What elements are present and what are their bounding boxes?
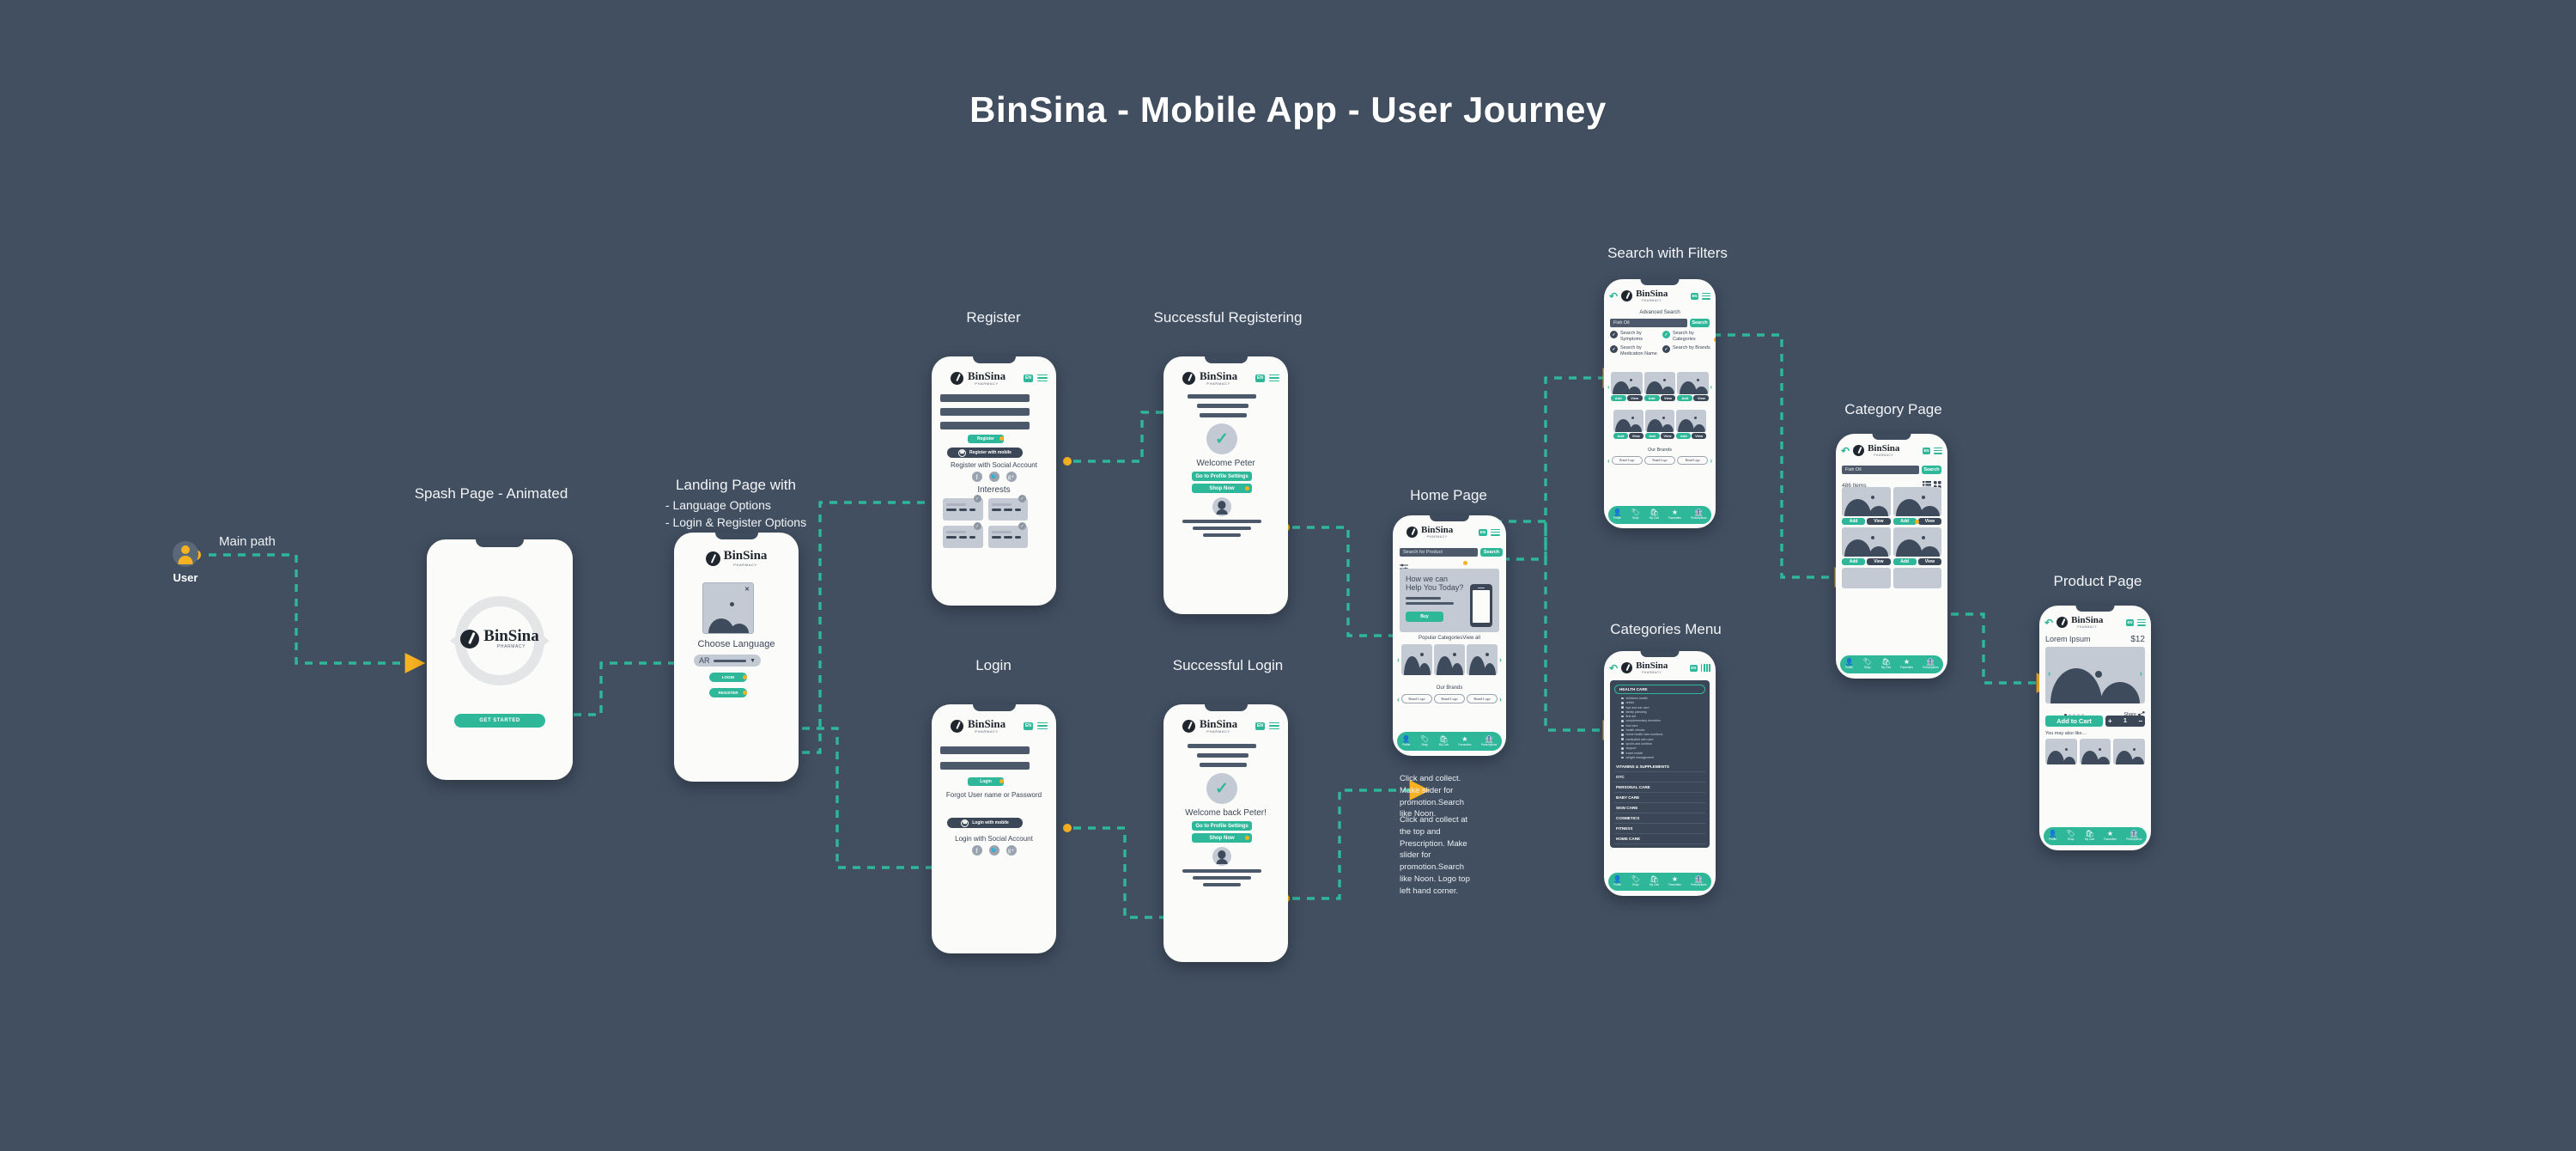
check-badge-icon: ✓ [974, 495, 981, 502]
filter-icon[interactable] [1400, 559, 1408, 566]
login-with-mobile-label: Login with mobile [972, 820, 1009, 825]
results-row-1: ‹ Add View [1607, 372, 1712, 401]
nav-profile[interactable]: 👤Profile [2049, 831, 2057, 841]
category-group[interactable]: SKIN CARE [1614, 803, 1705, 813]
twitter-icon[interactable]: 🐦 [989, 472, 999, 482]
profile-icon: 👤 [1613, 509, 1622, 516]
bottom-navbar[interactable]: 👤Profile 🏷Shop 🛍My Cart ★Favourites 🏦Pre… [1608, 873, 1711, 891]
checkbox-checked-icon[interactable]: ✓ [1662, 345, 1670, 353]
register-social-row: f 🐦 g+ [932, 472, 1056, 482]
register-button[interactable]: REGISTER [709, 688, 747, 697]
brand-tagline: PHARMACY [1421, 535, 1453, 539]
product-thumb[interactable] [1644, 372, 1676, 394]
chevron-left-icon[interactable]: ‹ [1607, 383, 1610, 391]
search-input[interactable]: Search for Product [1400, 548, 1478, 557]
avatar [1212, 497, 1231, 516]
bottom-navbar[interactable]: 👤Profile 🏷Shop 🛍My Cart ★Favourites 🏦Pre… [1608, 506, 1711, 524]
quantity-increase-button[interactable]: + [2108, 717, 2112, 725]
category-sub-item[interactable]: foot care [1621, 724, 1705, 728]
brand-tagline: PHARMACY [724, 563, 768, 567]
nav-prescriptions[interactable]: 🏦Prescriptions [1481, 736, 1497, 746]
product-gallery[interactable]: ‹ › [2045, 647, 2145, 703]
star-icon: ★ [1668, 509, 1681, 516]
login-social-heading: Login with Social Account [932, 835, 1056, 843]
register-submit-button[interactable]: Register [968, 435, 1004, 443]
hero-line-1: How we can [1406, 575, 1493, 583]
checkbox-checked-icon[interactable]: ✓ [1662, 331, 1670, 338]
filter-label: Search by Medication Name [1620, 345, 1659, 356]
nav-shop[interactable]: 🏷Shop [1631, 876, 1640, 886]
category-thumb[interactable] [1434, 644, 1465, 675]
label-category-page: Category Page [1844, 399, 1941, 421]
user-icon [173, 541, 198, 567]
category-sub-item[interactable]: family planning [1621, 710, 1705, 714]
search-button[interactable]: Search [1480, 548, 1503, 557]
go-to-profile-settings-button[interactable]: Go to Profile Settings [1192, 821, 1252, 831]
chevron-left-icon[interactable]: ‹ [1397, 655, 1400, 664]
menu-icon[interactable] [2137, 619, 2146, 626]
language-badge[interactable]: EN [2126, 619, 2134, 626]
category-sub-item[interactable]: complementary remedies [1621, 719, 1705, 722]
facebook-icon[interactable]: f [972, 845, 982, 856]
menu-icon[interactable] [1491, 529, 1500, 536]
product-thumb[interactable] [1893, 487, 1942, 516]
close-icon[interactable]: ✕ [744, 586, 750, 593]
star-icon: ★ [1900, 659, 1913, 666]
view-button[interactable]: View [1693, 395, 1709, 401]
binsina-logo-icon [460, 630, 479, 649]
language-badge[interactable]: EN [1024, 375, 1033, 382]
prescription-icon: 🏦 [1691, 509, 1706, 516]
related-product-thumb[interactable] [2045, 739, 2077, 764]
nav-shop[interactable]: 🏷Shop [2067, 831, 2075, 841]
back-arrow-icon[interactable]: ↶ [1609, 291, 1618, 301]
screen-register: BinSina PHARMACY EN Register ☎ Register … [932, 356, 1056, 606]
brand-logo-splash: BinSina PHARMACY [427, 628, 573, 649]
brand-logo-chip[interactable]: Brand Logo [1612, 456, 1643, 465]
menu-icon[interactable] [1269, 375, 1279, 382]
home-annotation-1: Click and collect. Make slider for promo… [1400, 773, 1475, 820]
chevron-right-icon[interactable]: › [1499, 655, 1502, 664]
category-sub-item[interactable]: home health care solutions [1621, 733, 1705, 736]
view-button[interactable]: View [1629, 433, 1643, 439]
category-sub-item[interactable]: medicated skin care [1621, 738, 1705, 741]
filter-options: ✓ Search by Symptoms ✓ Search by Categor… [1610, 331, 1711, 356]
login-submit-button[interactable]: Login [968, 777, 1004, 786]
register-with-mobile-label: Register with mobile [969, 450, 1012, 455]
view-button[interactable]: View [1661, 395, 1676, 401]
interest-card[interactable]: ✓ [988, 498, 1029, 521]
add-button[interactable]: Add [1842, 518, 1865, 525]
category-group[interactable]: COSMETICS [1614, 813, 1705, 824]
placeholder-line [1188, 394, 1256, 399]
quantity-decrease-button[interactable]: − [2138, 717, 2142, 725]
register-field-3[interactable] [940, 422, 1030, 429]
hero-image-placeholder: ✕ [702, 582, 754, 634]
bottom-navbar[interactable]: 👤Profile 🏷Shop 🛍My Cart ★Favourites 🏦Pre… [2044, 827, 2147, 845]
checkbox-checked-icon[interactable]: ✓ [1610, 345, 1618, 353]
menu-open-icon[interactable] [1701, 664, 1710, 672]
related-product-thumb[interactable] [2113, 739, 2145, 764]
forgot-password-link[interactable]: Forgot User name or Password [932, 791, 1056, 799]
language-select[interactable]: AR ▼ [694, 655, 761, 667]
chevron-left-icon[interactable]: ‹ [1607, 457, 1610, 465]
placeholder-line [1406, 602, 1454, 605]
screen-home: BinSina PHARMACY EN Search for Product S… [1393, 515, 1506, 756]
journey-canvas: BinSina - Mobile App - User Journey [0, 0, 2576, 1151]
menu-icon[interactable] [1037, 722, 1048, 730]
go-to-profile-settings-button[interactable]: Go to Profile Settings [1192, 472, 1252, 481]
nav-cart[interactable]: 🛍My Cart [1649, 509, 1659, 520]
profile-icon: 👤 [1845, 659, 1854, 666]
nav-prescriptions[interactable]: 🏦Prescriptions [2126, 831, 2142, 841]
product-card[interactable]: Add View [1842, 487, 1891, 525]
brands-carousel[interactable]: ‹ Brand Logo Brand Logo Brand Logo › [1397, 694, 1502, 703]
view-all-link[interactable]: View all [1462, 636, 1480, 641]
basket-icon: 🛍 [2085, 831, 2094, 837]
quantity-stepper[interactable]: + 1 − [2105, 716, 2145, 727]
nav-cart[interactable]: 🛍My Cart [2085, 831, 2094, 841]
connector-dot [1714, 338, 1716, 342]
menu-icon[interactable] [1269, 722, 1279, 730]
language-badge[interactable]: EN [1479, 529, 1487, 536]
add-button[interactable]: Add [1645, 433, 1660, 439]
binsina-logo-icon [951, 372, 963, 385]
brand-logo-chip[interactable]: Brand Logo [1644, 456, 1675, 465]
avatar [1212, 847, 1231, 866]
interest-card[interactable]: ✓ [988, 526, 1029, 548]
page-title: BinSina - Mobile App - User Journey [0, 89, 2576, 131]
nav-cart[interactable]: 🛍My Cart [1439, 736, 1449, 746]
language-badge[interactable]: EN [1690, 665, 1698, 672]
brand-logo-landing: BinSina PHARMACY [674, 550, 799, 567]
category-group-active[interactable]: HEALTH CARE [1614, 685, 1705, 694]
user-node: User [168, 541, 203, 584]
back-arrow-icon[interactable]: ↶ [1841, 446, 1850, 456]
brand-name: BinSina [1868, 444, 1899, 454]
brand-logo-chip[interactable]: Brand Logo [1401, 694, 1432, 703]
purchase-row: Add to Cart + 1 − [2045, 716, 2145, 727]
product-price: $12 [2130, 635, 2145, 644]
product-thumb[interactable] [1893, 527, 1942, 557]
view-button[interactable]: View [1867, 558, 1890, 565]
category-sub-item[interactable]: health checks [1621, 728, 1705, 732]
binsina-logo-icon [951, 720, 963, 733]
brand-logo-chip[interactable]: Brand Logo [1467, 694, 1498, 703]
category-sub-item[interactable]: support [1621, 746, 1705, 750]
menu-icon[interactable] [1702, 293, 1710, 300]
hero-banner[interactable]: How we can Help You Today? Buy [1400, 569, 1499, 632]
facebook-icon[interactable]: f [972, 472, 982, 482]
chevron-right-icon[interactable]: › [1710, 383, 1712, 391]
brand-tagline: PHARMACY [1868, 454, 1899, 457]
buy-button[interactable]: Buy [1406, 612, 1443, 622]
prescription-icon: 🏦 [2126, 831, 2142, 837]
star-icon: ★ [1668, 876, 1681, 883]
search-button[interactable]: Search [1690, 319, 1710, 327]
label-home: Home Page [1410, 485, 1487, 507]
prescription-icon: 🏦 [1481, 736, 1497, 743]
placeholder-line [1200, 413, 1247, 417]
screen-login: BinSina PHARMACY EN Login Forgot User na… [932, 704, 1056, 953]
nav-shop[interactable]: 🏷Shop [1863, 659, 1872, 669]
category-sub-item[interactable]: weight management [1621, 756, 1705, 759]
placeholder-line [1203, 883, 1241, 886]
nav-cart[interactable]: 🛍My Cart [1649, 876, 1659, 886]
add-button[interactable]: Add [1611, 395, 1626, 401]
add-button[interactable]: Add [1677, 395, 1692, 401]
connector-dot [1245, 836, 1249, 840]
category-sub-item[interactable]: eye and ear care [1621, 706, 1705, 709]
menu-icon[interactable] [1934, 448, 1942, 454]
filter-label: Search by Categories [1673, 331, 1711, 342]
language-badge[interactable]: EN [1691, 293, 1698, 300]
nav-favourites[interactable]: ★Favourites [1668, 876, 1681, 886]
interests-heading: Interests [932, 485, 1056, 495]
language-badge[interactable]: EN [1255, 375, 1265, 382]
add-button[interactable]: Add [1676, 433, 1691, 439]
success-check-icon: ✓ [1206, 423, 1237, 454]
add-to-cart-button[interactable]: Add to Cart [2045, 716, 2103, 727]
quantity-value: 1 [2123, 718, 2127, 724]
star-icon: ★ [1458, 736, 1471, 743]
filter-label: Search by Symptoms [1620, 331, 1659, 342]
add-button[interactable]: Add [1893, 518, 1917, 525]
product-thumb[interactable] [1842, 487, 1891, 516]
register-with-mobile-button[interactable]: ☎ Register with mobile [947, 448, 1023, 458]
view-button[interactable]: View [1692, 433, 1706, 439]
home-annotation-2: Click and collect at the top and Prescri… [1400, 814, 1475, 897]
filter-option[interactable]: ✓ Search by Categories [1662, 331, 1711, 342]
language-badge[interactable]: EN [1024, 722, 1033, 730]
label-landing-sub1: - Language Options [665, 496, 806, 514]
label-success-login: Successful Login [1173, 655, 1284, 677]
chevron-left-icon[interactable]: ‹ [1397, 695, 1400, 703]
twitter-icon[interactable]: 🐦 [989, 845, 999, 856]
register-field-2[interactable] [940, 408, 1030, 416]
menu-icon[interactable] [1037, 375, 1048, 382]
nav-profile[interactable]: 👤Profile [1613, 876, 1622, 886]
chevron-left-icon[interactable]: ‹ [2048, 669, 2050, 679]
nav-profile[interactable]: 👤Profile [1613, 509, 1622, 520]
search-input[interactable]: Fish Oil [1610, 319, 1687, 327]
profile-icon: 👤 [2049, 831, 2057, 837]
nav-prescriptions[interactable]: 🏦Prescriptions [1691, 509, 1706, 520]
product-card[interactable]: Add View [1893, 527, 1942, 565]
view-button[interactable]: View [1661, 433, 1675, 439]
product-thumb[interactable] [1842, 527, 1891, 557]
view-button[interactable]: View [1918, 558, 1941, 565]
category-sub-item[interactable]: first aid [1621, 715, 1705, 718]
login-with-mobile-button[interactable]: ☎ Login with mobile [947, 818, 1023, 828]
category-thumb[interactable] [1467, 644, 1498, 675]
screen-success-login: BinSina PHARMACY EN ✓ Welcome back Peter… [1163, 704, 1288, 962]
brand-name: BinSina [724, 550, 768, 563]
chevron-right-icon[interactable]: › [2140, 669, 2142, 679]
get-started-button[interactable]: GET STARTED [454, 714, 545, 728]
select-fill [714, 660, 747, 662]
category-sub-item[interactable]: childrens health [1621, 697, 1705, 700]
filter-option[interactable]: ✓ Search by Brands [1662, 345, 1711, 356]
product-card[interactable]: Add View [1893, 487, 1942, 525]
nav-favourites[interactable]: ★Favourites [1668, 509, 1681, 520]
phone-icon: ☎ [961, 819, 969, 827]
product-thumb[interactable] [1677, 372, 1709, 394]
language-badge[interactable]: EN [1255, 722, 1265, 730]
brand-name: BinSina [1421, 526, 1453, 535]
nav-profile[interactable]: 👤Profile [1845, 659, 1854, 669]
brand-logo-chip[interactable]: Brand Logo [1677, 456, 1708, 465]
basket-icon: 🛍 [1649, 876, 1659, 883]
results-row-2: Add View Add View [1607, 410, 1712, 439]
placeholder-line [1193, 527, 1251, 530]
screen-landing: BinSina PHARMACY ✕ Choose Language AR ▼ … [674, 533, 799, 782]
nav-shop[interactable]: 🏷Shop [1420, 736, 1429, 746]
add-button[interactable]: Add [1893, 558, 1917, 565]
popular-categories-row: Popular Categories View all [1400, 636, 1499, 641]
shop-now-button[interactable]: Shop Now [1192, 833, 1252, 843]
advanced-search-heading: Advanced Search [1604, 310, 1716, 315]
screen-categories-menu: ↶ BinSina PHARMACY EN HEALTH CARE childr… [1604, 651, 1716, 896]
tag-icon: 🏷 [1631, 876, 1640, 883]
login-password-field[interactable] [940, 762, 1030, 770]
binsina-logo-icon [2057, 617, 2068, 628]
binsina-logo-icon [1853, 445, 1864, 456]
product-thumb[interactable] [1842, 568, 1891, 588]
view-button[interactable]: View [1918, 518, 1941, 525]
brand-name: BinSina [968, 370, 1005, 381]
interest-card[interactable]: ✓ [943, 498, 983, 521]
check-badge-icon: ✓ [1018, 495, 1026, 502]
register-field-1[interactable] [940, 394, 1030, 402]
login-button[interactable]: LOGIN [709, 673, 747, 682]
product-thumb[interactable] [1613, 410, 1643, 432]
view-button[interactable]: View [1627, 395, 1643, 401]
add-button[interactable]: Add [1613, 433, 1628, 439]
product-thumb[interactable] [1676, 410, 1706, 432]
label-product-page: Product Page [2053, 571, 2142, 593]
check-badge-icon: ✓ [974, 522, 981, 530]
check-badge-icon: ✓ [1018, 522, 1026, 530]
login-username-field[interactable] [940, 746, 1030, 754]
filter-option[interactable]: ✓ Search by Medication Name [1610, 345, 1659, 356]
category-sub-item[interactable]: sports and nutrition [1621, 742, 1705, 746]
nav-cart[interactable]: 🛍My Cart [1881, 659, 1891, 669]
categories-carousel[interactable]: ‹ › [1397, 644, 1502, 675]
category-thumb[interactable] [1401, 644, 1432, 675]
screen-category-page: ↶ BinSina PHARMACY EN Fish Oil Search 48… [1836, 434, 1947, 679]
category-group[interactable]: FITNESS [1614, 824, 1705, 834]
placeholder-line [1188, 744, 1256, 748]
category-sub-list: childrens health drinks eye and ear care… [1614, 694, 1705, 762]
binsina-logo-icon [1182, 720, 1195, 733]
nav-favourites[interactable]: ★Favourites [1900, 659, 1913, 669]
placeholder-line [1197, 753, 1249, 758]
connector-dot [1463, 561, 1467, 565]
brands-carousel[interactable]: ‹ Brand Logo Brand Logo Brand Logo › [1607, 456, 1712, 465]
filter-option[interactable]: ✓ Search by Symptoms [1610, 331, 1659, 342]
product-thumb[interactable] [1611, 372, 1643, 394]
brand-logo-chip[interactable]: Brand Logo [1434, 694, 1465, 703]
shop-now-button[interactable]: Shop Now [1192, 484, 1252, 493]
tag-icon: 🏷 [1863, 659, 1872, 666]
connector-dot [1245, 486, 1249, 490]
view-button[interactable]: View [1867, 518, 1890, 525]
brand-name: BinSina [1636, 289, 1668, 299]
search-button[interactable]: Search [1922, 466, 1941, 474]
brand-name: BinSina [483, 628, 538, 644]
label-success-register: Successful Registering [1154, 308, 1303, 329]
category-group[interactable]: PERSONAL CARE [1614, 783, 1705, 793]
add-button[interactable]: Add [1842, 558, 1865, 565]
category-group[interactable]: OTC [1614, 772, 1705, 783]
interest-card[interactable]: ✓ [943, 526, 983, 548]
popular-categories-heading: Popular Categories [1419, 636, 1462, 641]
related-product-thumb[interactable] [2080, 739, 2111, 764]
also-like-heading: You may also like... [2045, 731, 2086, 736]
checkbox-checked-icon[interactable]: ✓ [1610, 331, 1618, 338]
product-thumb[interactable] [1645, 410, 1675, 432]
connector-dot [999, 436, 1004, 441]
flow-connectors [0, 0, 2576, 1151]
brand-name: BinSina [2071, 616, 2103, 625]
nav-favourites[interactable]: ★Favourites [1458, 736, 1471, 746]
product-card[interactable]: Add View [1842, 527, 1891, 565]
related-products [2045, 739, 2145, 764]
success-check-icon: ✓ [1206, 773, 1237, 804]
brand-name: BinSina [1200, 718, 1237, 729]
nav-prescriptions[interactable]: 🏦Prescriptions [1691, 876, 1706, 886]
category-group[interactable]: BABY CARE [1614, 793, 1705, 803]
nav-favourites[interactable]: ★Favourites [2104, 831, 2117, 841]
chevron-right-icon[interactable]: › [1499, 695, 1502, 703]
nav-shop[interactable]: 🏷Shop [1631, 509, 1640, 520]
choose-language-heading: Choose Language [674, 639, 799, 649]
product-title-row: Lorem Ipsum $12 [2045, 635, 2145, 644]
screen-search-filters: ↶ BinSina PHARMACY EN Advanced Search Fi… [1604, 279, 1716, 528]
category-group[interactable]: VITAMINS & SUPPLEMENTS [1614, 762, 1705, 772]
language-badge[interactable]: EN [1923, 448, 1930, 454]
back-arrow-icon[interactable]: ↶ [1609, 663, 1618, 673]
label-splash: Spash Page - Animated [415, 484, 568, 505]
category-group[interactable]: HOME CARE [1614, 834, 1705, 844]
nav-prescriptions[interactable]: 🏦Prescriptions [1923, 659, 1938, 669]
main-path-label: Main path [219, 534, 276, 549]
tag-icon: 🏷 [1420, 736, 1429, 743]
product-thumb[interactable] [1893, 568, 1942, 588]
google-plus-icon[interactable]: g+ [1006, 472, 1017, 482]
chevron-right-icon[interactable]: › [1710, 457, 1712, 465]
bottom-navbar[interactable]: 👤Profile 🏷Shop 🛍My Cart ★Favourites 🏦Pre… [1840, 655, 1943, 673]
connector-dot [743, 675, 747, 679]
back-arrow-icon[interactable]: ↶ [2044, 618, 2053, 628]
label-register: Register [966, 308, 1020, 329]
brand-name: BinSina [1636, 661, 1668, 671]
nav-profile[interactable]: 👤Profile [1402, 736, 1411, 746]
welcome-message: Welcome Peter [1163, 459, 1288, 468]
search-input[interactable]: Fish Oil [1842, 466, 1919, 474]
google-plus-icon[interactable]: g+ [1006, 845, 1017, 856]
brand-tagline: PHARMACY [1636, 671, 1668, 674]
binsina-logo-icon [1621, 290, 1632, 301]
category-sub-item[interactable]: travel health [1621, 752, 1705, 755]
bottom-navbar[interactable]: 👤Profile 🏷Shop 🛍My Cart ★Favourites 🏦Pre… [1397, 732, 1502, 751]
category-group[interactable]: HEALTHY FOODS [1614, 844, 1705, 848]
add-button[interactable]: Add [1644, 395, 1660, 401]
brand-tagline: PHARMACY [2071, 625, 2103, 629]
welcome-message: Welcome back Peter! [1163, 808, 1288, 818]
category-sub-item[interactable]: drinks [1621, 701, 1705, 704]
